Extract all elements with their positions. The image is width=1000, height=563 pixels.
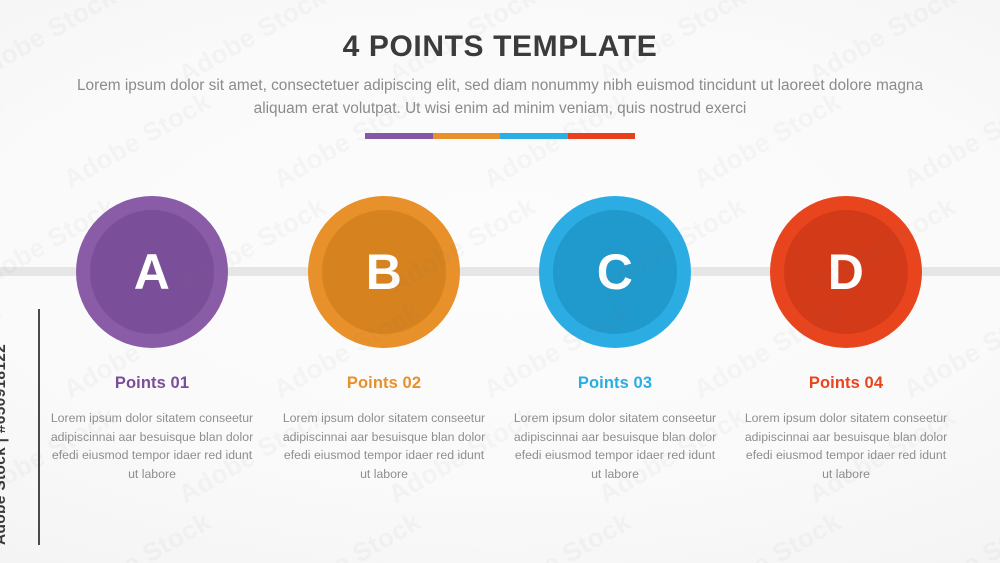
divider-segment-4 bbox=[568, 133, 636, 139]
point-circle-inner-3: C bbox=[553, 210, 677, 334]
point-column-3[interactable]: CPoints 03Lorem ipsum dolor sitatem cons… bbox=[499, 196, 731, 483]
point-column-2[interactable]: BPoints 02Lorem ipsum dolor sitatem cons… bbox=[268, 196, 500, 483]
point-title-1: Points 01 bbox=[36, 374, 268, 393]
point-circle-inner-1: A bbox=[90, 210, 214, 334]
point-description-2: Lorem ipsum dolor sitatem conseetur adip… bbox=[268, 409, 500, 483]
point-title-4: Points 04 bbox=[730, 374, 962, 393]
divider-segment-2 bbox=[433, 133, 501, 139]
point-title-3: Points 03 bbox=[499, 374, 731, 393]
divider-segment-3 bbox=[500, 133, 568, 139]
infographic-canvas: 4 POINTS TEMPLATE Lorem ipsum dolor sit … bbox=[0, 0, 1000, 563]
point-description-3: Lorem ipsum dolor sitatem conseetur adip… bbox=[499, 409, 731, 483]
point-letter-4: D bbox=[828, 247, 865, 297]
point-description-4: Lorem ipsum dolor sitatem conseetur adip… bbox=[730, 409, 962, 483]
point-circle-inner-4: D bbox=[784, 210, 908, 334]
point-circle-4[interactable]: D bbox=[770, 196, 922, 348]
color-divider bbox=[365, 133, 635, 139]
watermark-rule bbox=[38, 309, 40, 545]
point-column-1[interactable]: APoints 01Lorem ipsum dolor sitatem cons… bbox=[36, 196, 268, 483]
point-letter-2: B bbox=[366, 247, 403, 297]
point-letter-1: A bbox=[134, 247, 171, 297]
point-description-1: Lorem ipsum dolor sitatem conseetur adip… bbox=[36, 409, 268, 483]
point-circle-3[interactable]: C bbox=[539, 196, 691, 348]
point-title-2: Points 02 bbox=[268, 374, 500, 393]
divider-segment-1 bbox=[365, 133, 433, 139]
point-circle-2[interactable]: B bbox=[308, 196, 460, 348]
page-subtitle: Lorem ipsum dolor sit amet, consectetuer… bbox=[70, 74, 930, 120]
point-circle-1[interactable]: A bbox=[76, 196, 228, 348]
stock-watermark-label: Adobe Stock | #650918122 bbox=[0, 344, 10, 545]
point-column-4[interactable]: DPoints 04Lorem ipsum dolor sitatem cons… bbox=[730, 196, 962, 483]
point-circle-inner-2: B bbox=[322, 210, 446, 334]
point-letter-3: C bbox=[597, 247, 634, 297]
page-title: 4 POINTS TEMPLATE bbox=[0, 30, 1000, 64]
